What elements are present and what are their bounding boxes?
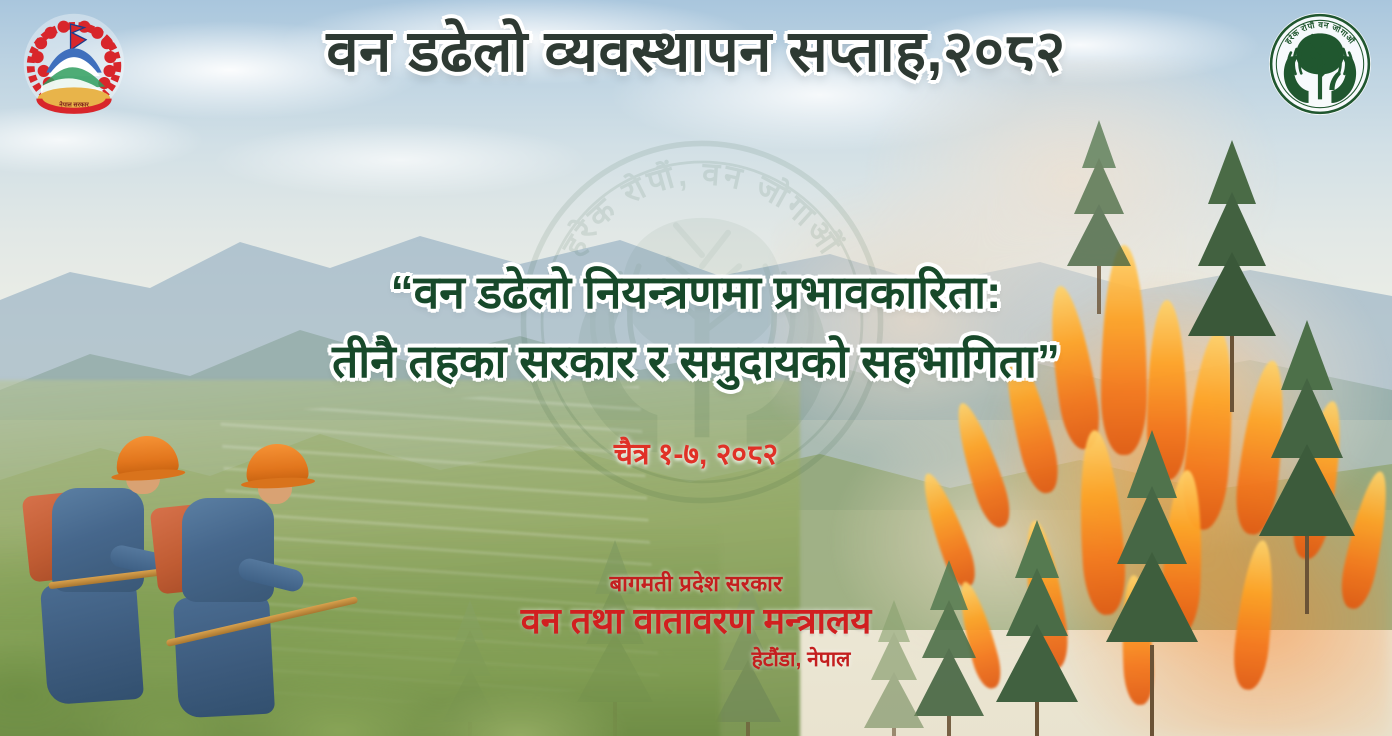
ministry-location: हेटौंडा, नेपाल (0, 645, 1392, 673)
header-band: वन डढेलो व्यवस्थापन सप्ताह,२०८२ (0, 0, 1392, 130)
page-title: वन डढेलो व्यवस्थापन सप्ताह,२०८२ (0, 22, 1392, 83)
forest-department-logo: हरेक रोपौं वन जोगाऔं (1268, 12, 1372, 116)
forest-fire-week-banner: हरेक रोपौं, वन जोगाऔं वन डढेलो व्यवस्थाप… (0, 0, 1392, 736)
event-date: चैत्र १-७, २०८२ (0, 432, 1392, 473)
slogan-block: “वन डढेलो नियन्त्रणमा प्रभावकारिता: तीनै… (0, 258, 1392, 396)
slogan-line-1: “वन डढेलो नियन्त्रणमा प्रभावकारिता: (0, 258, 1392, 327)
slogan-line-2: तीनै तहका सरकार र समुदायको सहभागिता” (0, 327, 1392, 396)
emblem-caption-text: नेपाल सरकार (58, 100, 89, 108)
provincial-government-name: बागमती प्रदेश सरकार (0, 568, 1392, 598)
nepal-government-emblem: नेपाल सरकार (22, 12, 126, 116)
ministry-name: वन तथा वातावरण मन्त्रालय (0, 599, 1392, 643)
ministry-block: बागमती प्रदेश सरकार वन तथा वातावरण मन्त्… (0, 568, 1392, 673)
